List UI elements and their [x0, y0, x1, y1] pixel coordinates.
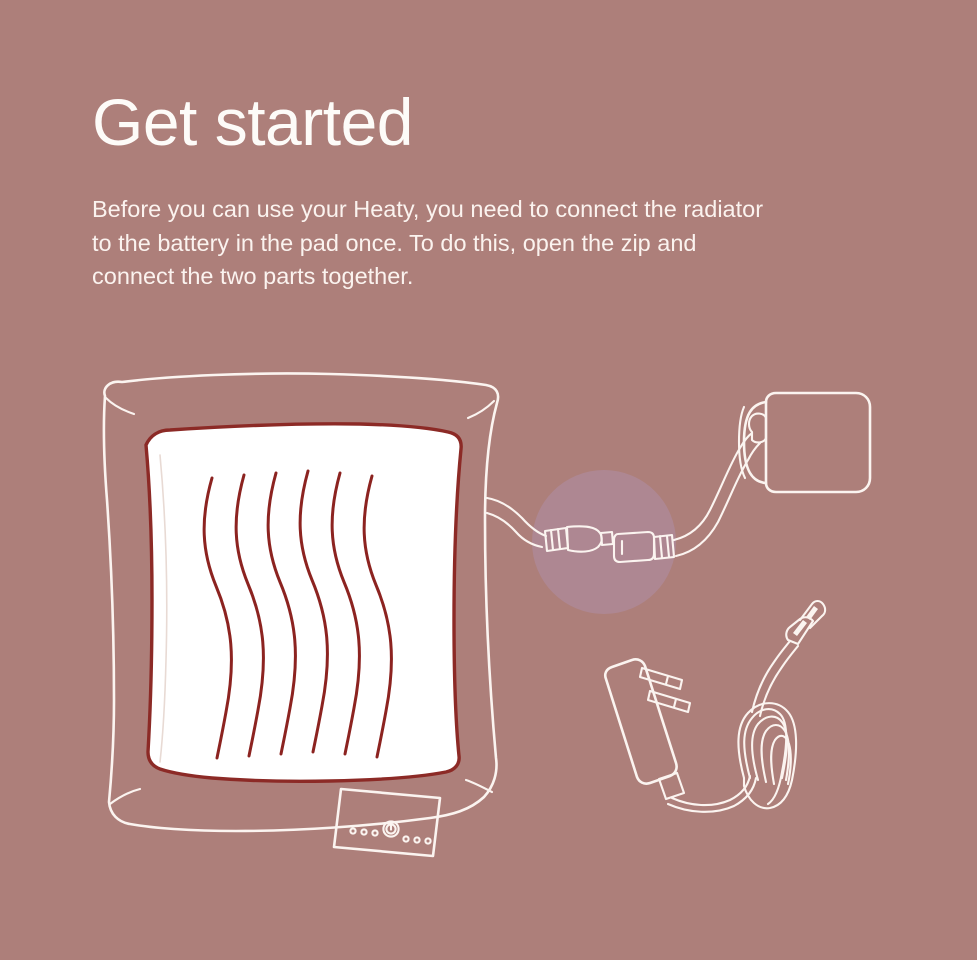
page-root: Get started Before you can use your Heat…: [0, 0, 977, 960]
control-unit[interactable]: [334, 789, 440, 856]
adapter-cable: [668, 641, 798, 812]
power-button-icon[interactable]: [383, 821, 398, 836]
heating-pad: [146, 424, 461, 782]
indicator-dots-left: [350, 828, 377, 835]
battery-cable: [674, 414, 766, 556]
product-illustration: [0, 0, 977, 960]
indicator-dots-right: [403, 836, 430, 843]
adapter-plug: [786, 601, 825, 644]
power-adapter: [605, 659, 690, 799]
